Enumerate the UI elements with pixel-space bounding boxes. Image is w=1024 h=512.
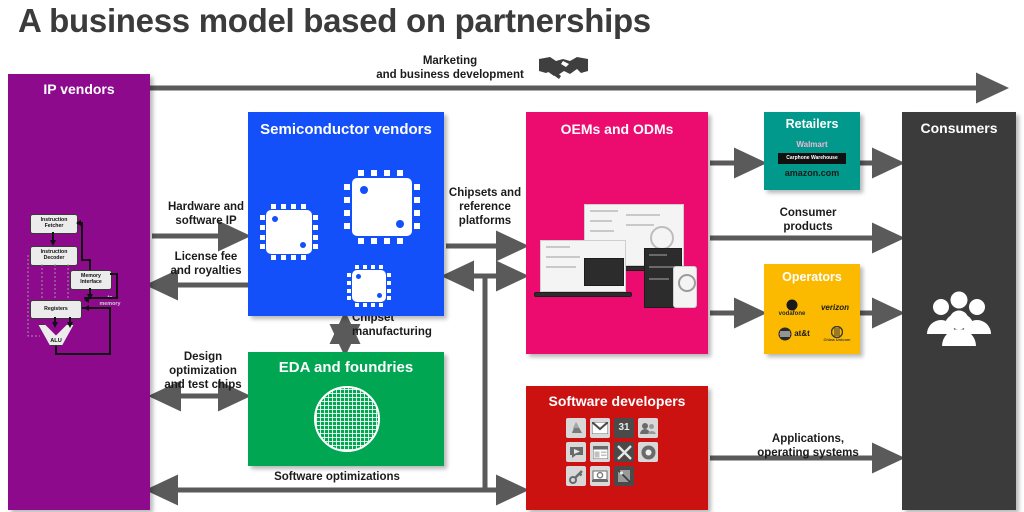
- box-semiconductor-vendors[interactable]: Semiconductor vendors: [248, 112, 444, 316]
- label-design-optimization: Design optimization and test chips: [156, 350, 250, 392]
- box-consumers[interactable]: Consumers: [902, 112, 1016, 510]
- box-retailers[interactable]: Retailers Walmart Carphone Warehouse ama…: [764, 112, 860, 190]
- logo-amazon: amazon.com: [778, 167, 846, 180]
- box-title-retailers: Retailers: [764, 117, 860, 131]
- calendar-icon: 31: [614, 418, 634, 438]
- apps-icon: [614, 442, 634, 462]
- logo-china-unicom: China Unicom: [818, 324, 856, 344]
- diagram-canvas: A business model based on partnerships: [0, 0, 1024, 512]
- microchip-icon-large: [352, 178, 412, 236]
- box-oems-odms[interactable]: OEMs and ODMs: [526, 112, 708, 354]
- silicon-wafer-icon: [314, 386, 380, 452]
- label-chipsets: Chipsets and reference platforms: [444, 186, 526, 228]
- app-icon-grid: 31: [566, 418, 658, 486]
- people-group-icon: [926, 290, 992, 346]
- box-title-software: Software developers: [526, 394, 708, 410]
- meet-icon: [590, 466, 610, 486]
- logo-verizon: verizon: [814, 298, 856, 318]
- chrome-icon: [638, 442, 658, 462]
- cpu-block-diagram: Instruction Fetcher Instruction Decoder …: [22, 208, 142, 358]
- page-title: A business model based on partnerships: [18, 2, 651, 40]
- label-consumer-products: Consumer products: [740, 206, 876, 234]
- sites-icon: [590, 442, 610, 462]
- box-title-oem: OEMs and ODMs: [526, 122, 708, 138]
- gmail-icon: [590, 418, 610, 438]
- hangouts-icon: [566, 442, 586, 462]
- device-mockups-icon: [540, 204, 698, 310]
- logo-walmart: Walmart: [778, 138, 846, 151]
- logo-att: at&t: [772, 324, 816, 344]
- admin-icon: [614, 466, 634, 486]
- logo-vodafone-text: vodafone: [779, 311, 806, 317]
- label-license-fee: License fee and royalties: [158, 250, 254, 278]
- handshake-icon: [536, 52, 590, 87]
- logo-att-text: at&t: [794, 330, 810, 338]
- box-title-consumers: Consumers: [902, 121, 1016, 137]
- box-software-developers[interactable]: Software developers 31: [526, 386, 708, 510]
- box-title-eda: EDA and foundries: [248, 360, 444, 377]
- box-title-ip-vendors: IP vendors: [8, 82, 150, 98]
- label-hardware-ip: Hardware and software IP: [158, 200, 254, 228]
- microchip-icon-small: [266, 210, 312, 254]
- logo-carphone-warehouse: Carphone Warehouse: [778, 153, 846, 164]
- contacts-icon: [638, 418, 658, 438]
- label-marketing: Marketing and business development: [360, 54, 540, 82]
- box-title-operators: Operators: [764, 270, 860, 284]
- logo-china-unicom-text: China Unicom: [824, 338, 851, 342]
- logo-vodafone: vodafone: [772, 298, 812, 318]
- box-eda-foundries[interactable]: EDA and foundries: [248, 352, 444, 466]
- box-operators[interactable]: Operators vodafone verizon at&t China Un…: [764, 264, 860, 354]
- keep-icon: [566, 466, 586, 486]
- cpu-wires: [22, 208, 142, 358]
- box-title-semiconductor: Semiconductor vendors: [248, 122, 444, 139]
- drive-icon: [566, 418, 586, 438]
- microchip-icon-tiny: [352, 270, 386, 302]
- label-applications: Applications, operating systems: [722, 432, 894, 460]
- label-software-optimizations: Software optimizations: [214, 470, 460, 484]
